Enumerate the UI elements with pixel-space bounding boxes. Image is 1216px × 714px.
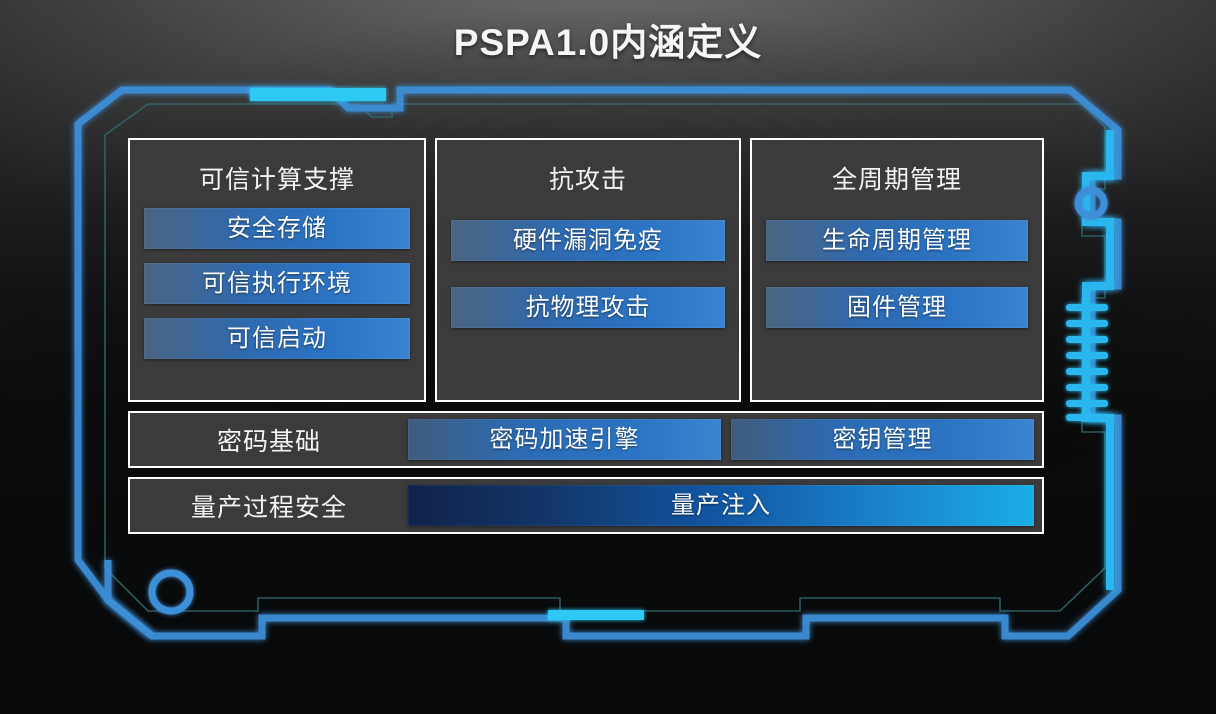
circle-ring-left: [152, 573, 190, 611]
panel-title: 可信计算支撑: [130, 160, 424, 196]
row-production-security[interactable]: 量产过程安全 量产注入: [128, 477, 1044, 534]
panel-attack-resistance[interactable]: 抗攻击 硬件漏洞免疫 抗物理攻击: [435, 138, 741, 402]
row-crypto-foundation[interactable]: 密码基础 密码加速引擎 密钥管理: [128, 411, 1044, 468]
panel-title: 抗攻击: [437, 160, 739, 196]
content-area: 可信计算支撑 安全存储 可信执行环境 可信启动 抗攻击 硬件漏洞免疫 抗物理攻击…: [128, 138, 1044, 556]
item-lifecycle-management[interactable]: 生命周期管理: [766, 220, 1028, 261]
item-firmware-management[interactable]: 固件管理: [766, 287, 1028, 328]
item-crypto-acceleration-engine[interactable]: 密码加速引擎: [408, 419, 721, 460]
item-hardware-vulnerability-immunity[interactable]: 硬件漏洞免疫: [451, 220, 725, 261]
circle-ring-right: [1078, 190, 1104, 216]
frame-accent-bottom: [548, 610, 644, 620]
top-panel-row: 可信计算支撑 安全存储 可信执行环境 可信启动 抗攻击 硬件漏洞免疫 抗物理攻击…: [128, 138, 1044, 402]
row-label: 量产过程安全: [130, 488, 408, 524]
panel-trusted-computing[interactable]: 可信计算支撑 安全存储 可信执行环境 可信启动: [128, 138, 426, 402]
item-key-management[interactable]: 密钥管理: [731, 419, 1034, 460]
item-trusted-execution-environment[interactable]: 可信执行环境: [144, 263, 410, 304]
dash-stack: [1066, 304, 1108, 421]
panel-title: 全周期管理: [752, 160, 1042, 196]
frame-accent-top: [250, 88, 386, 101]
item-physical-attack-resistance[interactable]: 抗物理攻击: [451, 287, 725, 328]
item-production-provisioning[interactable]: 量产注入: [408, 485, 1034, 526]
row-label: 密码基础: [130, 422, 408, 458]
frame-right-accent-run: [1086, 130, 1110, 590]
item-secure-storage[interactable]: 安全存储: [144, 208, 410, 249]
panel-lifecycle-management[interactable]: 全周期管理 生命周期管理 固件管理: [750, 138, 1044, 402]
slide-canvas: PSPA1.0内涵定义: [0, 0, 1216, 714]
item-trusted-boot[interactable]: 可信启动: [144, 318, 410, 359]
page-title: PSPA1.0内涵定义: [0, 12, 1216, 66]
